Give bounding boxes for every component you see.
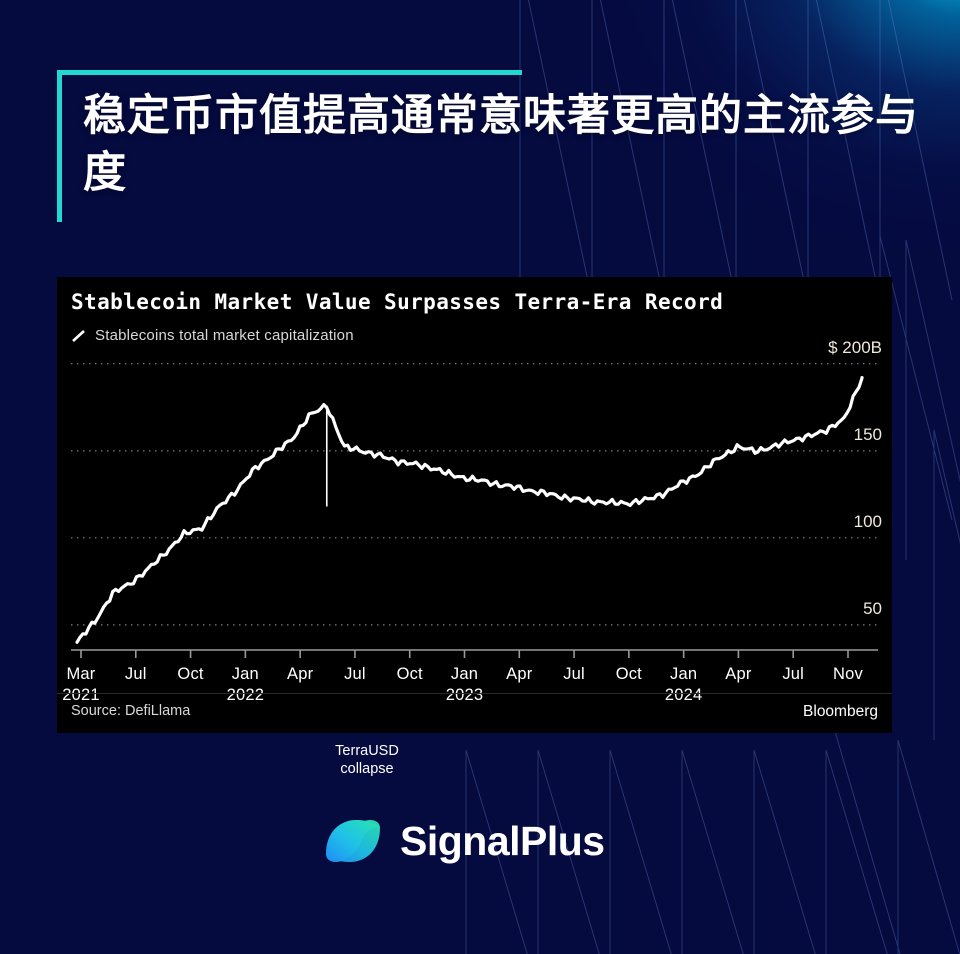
headline-block: 稳定币市值提高通常意味著更高的主流参与度 — [57, 62, 917, 237]
x-axis-month: Jan — [654, 665, 714, 684]
x-axis-month: Jul — [544, 665, 604, 684]
x-axis-month: Apr — [270, 665, 330, 684]
y-axis-label: 50 — [863, 599, 882, 619]
x-axis-month: Jul — [106, 665, 166, 684]
y-axis-label: $ 200B — [828, 338, 882, 358]
x-axis-month: Oct — [380, 665, 440, 684]
annotation-line-2: collapse — [340, 761, 393, 777]
x-axis-month: Oct — [161, 665, 221, 684]
x-axis-month: Mar — [51, 665, 111, 684]
x-axis-label: Jul — [106, 665, 166, 686]
x-axis-month: Jan — [435, 665, 495, 684]
x-axis-label: Apr — [708, 665, 768, 686]
slash-line-icon — [71, 329, 87, 343]
x-axis-label: Oct — [161, 665, 221, 686]
chart-panel: Stablecoin Market Value Surpasses Terra-… — [57, 277, 892, 733]
chart-legend: Stablecoins total market capitalization — [71, 327, 354, 344]
x-axis-month: Jan — [215, 665, 275, 684]
x-axis-label: Nov — [818, 665, 878, 686]
x-axis-month: Apr — [708, 665, 768, 684]
chart-legend-label: Stablecoins total market capitalization — [95, 327, 354, 344]
accent-bracket-vertical — [57, 70, 62, 222]
chart-plot-area — [71, 355, 878, 651]
chart-source: Source: DefiLlama — [71, 703, 190, 719]
x-axis-label: Jul — [325, 665, 385, 686]
x-axis-label: Oct — [599, 665, 659, 686]
chart-title: Stablecoin Market Value Surpasses Terra-… — [71, 290, 723, 314]
slide-root: 稳定币市值提高通常意味著更高的主流参与度 Stablecoin Market V… — [0, 0, 960, 954]
y-axis-label: 100 — [854, 512, 882, 532]
x-axis-label: Apr — [270, 665, 330, 686]
annotation-terrausd-collapse: TerraUSD collapse — [319, 742, 415, 778]
x-axis-label: Jul — [544, 665, 604, 686]
y-axis-label: 150 — [854, 425, 882, 445]
x-axis-label: Apr — [489, 665, 549, 686]
x-axis-month: Oct — [599, 665, 659, 684]
chart-footer: Source: DefiLlama Bloomberg — [57, 693, 892, 733]
x-axis-month: Jul — [763, 665, 823, 684]
chart-brand: Bloomberg — [803, 703, 878, 721]
x-axis-label: Oct — [380, 665, 440, 686]
x-axis-month: Apr — [489, 665, 549, 684]
x-axis-month: Jul — [325, 665, 385, 684]
page-title: 稳定币市值提高通常意味著更高的主流参与度 — [83, 88, 919, 202]
signalplus-wave-icon — [322, 810, 384, 872]
x-axis-label: Jul — [763, 665, 823, 686]
series-line — [77, 378, 862, 643]
annotation-line-1: TerraUSD — [335, 743, 399, 759]
signalplus-logo: SignalPlus — [322, 810, 605, 872]
signalplus-wordmark: SignalPlus — [400, 818, 605, 865]
accent-bracket-horizontal — [57, 70, 522, 75]
x-axis-month: Nov — [818, 665, 878, 684]
